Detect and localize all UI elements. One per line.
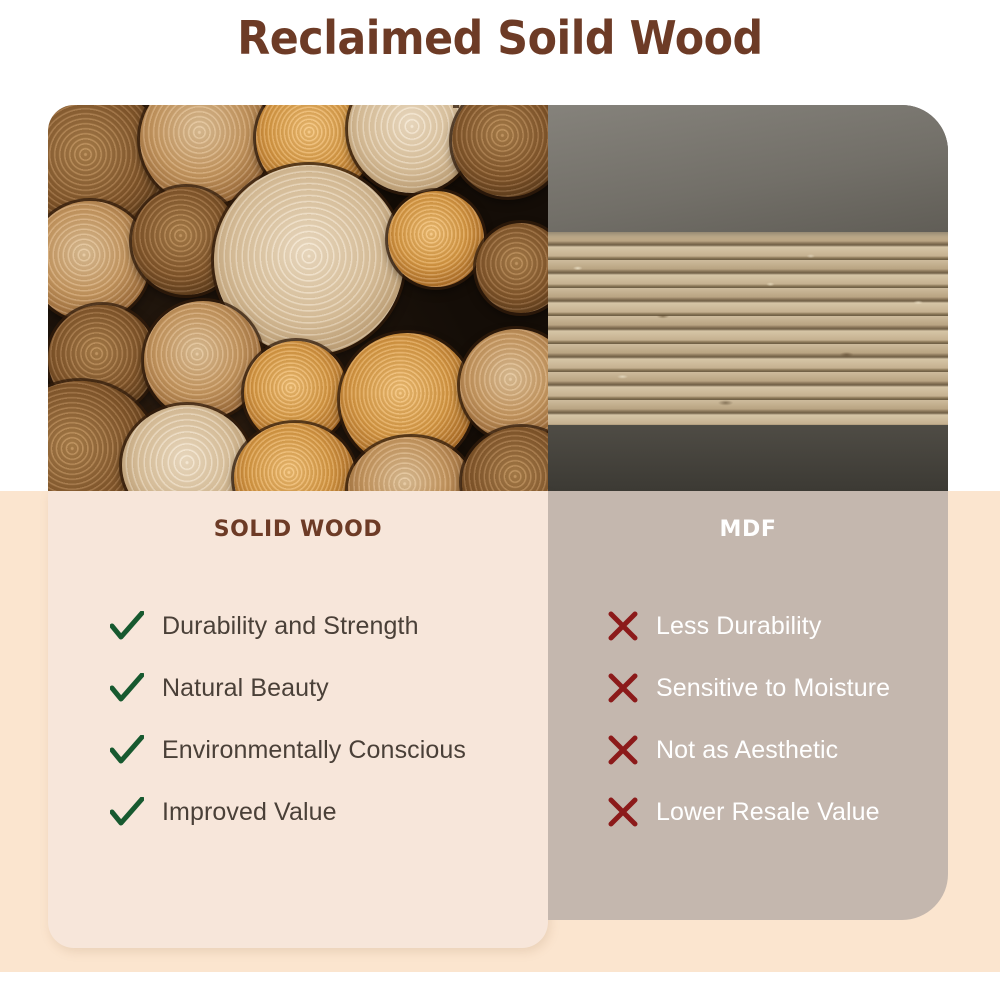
mdf-floor <box>548 425 948 491</box>
cross-icon <box>602 672 644 704</box>
list-item-label: Sensitive to Moisture <box>656 674 890 703</box>
mdf-image <box>548 105 948 491</box>
infographic-page: Reclaimed Soild Wood <box>0 0 1000 1000</box>
list-item: Natural Beauty <box>48 657 548 719</box>
mdf-board-stack-edges <box>548 232 948 433</box>
mdf-board-top-face <box>548 105 948 244</box>
mdf-heading: MDF <box>548 517 948 542</box>
check-icon <box>106 611 148 641</box>
list-item-label: Durability and Strength <box>162 612 419 641</box>
list-item-label: Natural Beauty <box>162 674 329 703</box>
list-item: Not as Aesthetic <box>548 719 948 781</box>
solid-wood-heading: SOLID WOOD <box>48 517 548 542</box>
page-title: Reclaimed Soild Wood <box>35 8 965 68</box>
logs-image <box>48 105 548 491</box>
list-item: Environmentally Conscious <box>48 719 548 781</box>
solid-wood-panel: SOLID WOOD Durability and Strength <box>48 491 548 948</box>
cross-icon <box>602 796 644 828</box>
check-icon <box>106 735 148 765</box>
cross-icon <box>602 734 644 766</box>
list-item-label: Environmentally Conscious <box>162 736 466 765</box>
comparison-card: SOLID WOOD Durability and Strength <box>48 105 948 948</box>
check-icon <box>106 797 148 827</box>
stacked-logs-photo <box>48 105 548 491</box>
list-item: Sensitive to Moisture <box>548 657 948 719</box>
list-item: Less Durability <box>548 595 948 657</box>
mdf-feature-list: Less Durability Sensitive to Moisture <box>548 595 948 843</box>
list-item-label: Improved Value <box>162 798 337 827</box>
photo-row <box>48 105 948 491</box>
mdf-chip-texture <box>548 232 948 433</box>
mdf-particleboard-photo <box>548 105 948 491</box>
panel-row: SOLID WOOD Durability and Strength <box>48 491 948 948</box>
list-item-label: Lower Resale Value <box>656 798 880 827</box>
cross-icon <box>602 610 644 642</box>
list-item-label: Not as Aesthetic <box>656 736 838 765</box>
solid-wood-feature-list: Durability and Strength Natural Beauty <box>48 595 548 843</box>
background-footer <box>0 972 1000 1000</box>
list-item: Durability and Strength <box>48 595 548 657</box>
list-item: Improved Value <box>48 781 548 843</box>
list-item-label: Less Durability <box>656 612 821 641</box>
check-icon <box>106 673 148 703</box>
mdf-panel: MDF Less Durability <box>548 491 948 920</box>
list-item: Lower Resale Value <box>548 781 948 843</box>
